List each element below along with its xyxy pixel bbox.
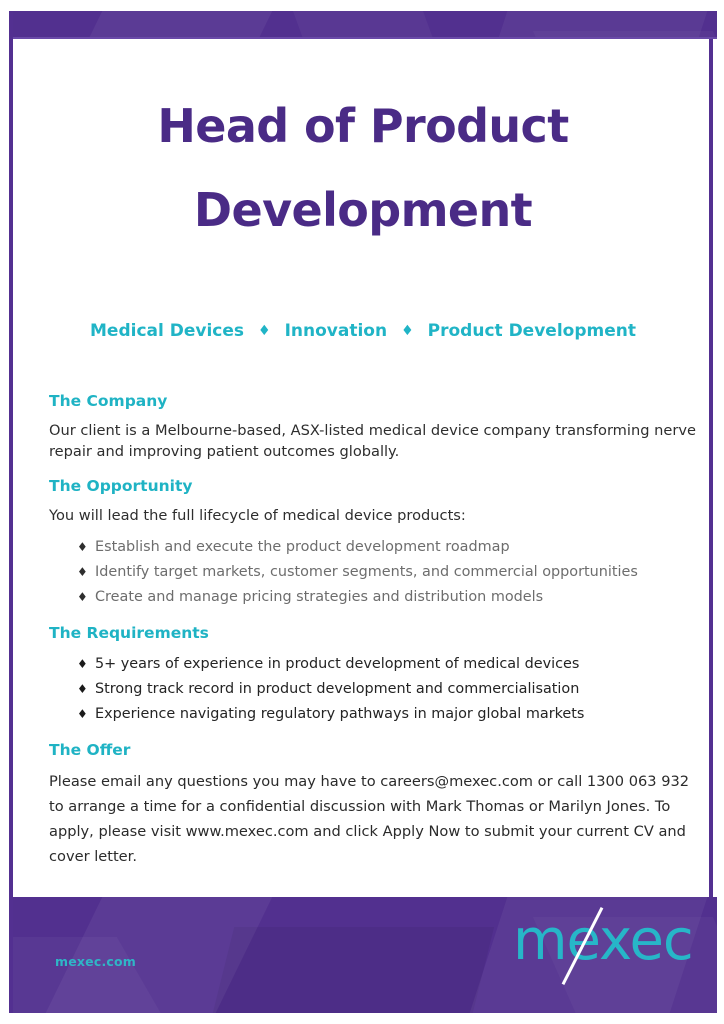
diamond-separator-icon: ♦	[258, 323, 271, 339]
diamond-bullet-icon: ♦	[77, 535, 88, 560]
footer-website-url[interactable]: mexec.com	[55, 954, 136, 969]
section-opportunity: The Opportunity You will lead the full l…	[49, 478, 697, 610]
band-facet	[533, 31, 717, 39]
offer-paragraph: Please email any questions you may have …	[49, 769, 697, 869]
diamond-bullet-icon: ♦	[77, 585, 88, 610]
diamond-bullet-icon: ♦	[77, 652, 88, 677]
job-advert-page: Head of Product Development Medical Devi…	[0, 0, 724, 1024]
tagline-item-2: Innovation	[285, 321, 388, 341]
section-requirements: The Requirements ♦5+ years of experience…	[49, 625, 697, 727]
band-facet	[13, 937, 209, 1013]
header-band	[13, 11, 717, 39]
band-facet	[449, 11, 717, 39]
logo-wordmark: mexec	[513, 913, 689, 969]
opportunity-bullet-list: ♦Establish and execute the product devel…	[49, 535, 697, 610]
mexec-logo: mexec	[513, 909, 689, 985]
list-item-label: Identify target markets, customer segmen…	[95, 564, 638, 580]
diamond-bullet-icon: ♦	[77, 560, 88, 585]
tagline-item-1: Medical Devices	[90, 321, 244, 341]
section-heading-opportunity: The Opportunity	[49, 478, 697, 495]
company-paragraph: Our client is a Melbourne-based, ASX-lis…	[49, 420, 697, 462]
list-item: ♦Establish and execute the product devel…	[77, 535, 697, 560]
requirements-bullet-list: ♦5+ years of experience in product devel…	[49, 652, 697, 727]
list-item-label: Establish and execute the product develo…	[95, 539, 510, 555]
diamond-separator-icon: ♦	[401, 323, 414, 339]
content-body: The Company Our client is a Melbourne-ba…	[49, 393, 697, 885]
list-item: ♦Create and manage pricing strategies an…	[77, 585, 697, 610]
list-item-label: Create and manage pricing strategies and…	[95, 589, 543, 605]
title-line-1: Head of Product	[17, 103, 709, 149]
title-line-2: Development	[17, 187, 709, 233]
opportunity-intro: You will lead the full lifecycle of medi…	[49, 505, 697, 526]
list-item-label: Experience navigating regulatory pathway…	[95, 706, 584, 722]
section-company: The Company Our client is a Melbourne-ba…	[49, 393, 697, 462]
band-facet	[271, 11, 485, 39]
list-item: ♦Strong track record in product developm…	[77, 677, 697, 702]
section-offer: The Offer Please email any questions you…	[49, 742, 697, 869]
tagline-item-3: Product Development	[428, 321, 636, 341]
section-heading-requirements: The Requirements	[49, 625, 697, 642]
page-frame: Head of Product Development Medical Devi…	[9, 11, 713, 1013]
list-item: ♦Identify target markets, customer segme…	[77, 560, 697, 585]
diamond-bullet-icon: ♦	[77, 677, 88, 702]
list-item-label: Strong track record in product developme…	[95, 681, 579, 697]
diamond-bullet-icon: ♦	[77, 702, 88, 727]
tagline: Medical Devices♦Innovation♦Product Devel…	[17, 321, 709, 341]
list-item: ♦5+ years of experience in product devel…	[77, 652, 697, 677]
page-title: Head of Product Development	[17, 103, 709, 233]
list-item-label: 5+ years of experience in product develo…	[95, 656, 579, 672]
band-facet	[24, 11, 292, 39]
list-item: ♦Experience navigating regulatory pathwa…	[77, 702, 697, 727]
footer-band: mexec.com mexec	[13, 897, 717, 1013]
band-facet	[192, 927, 494, 1013]
section-heading-company: The Company	[49, 393, 697, 410]
section-heading-offer: The Offer	[49, 742, 697, 759]
